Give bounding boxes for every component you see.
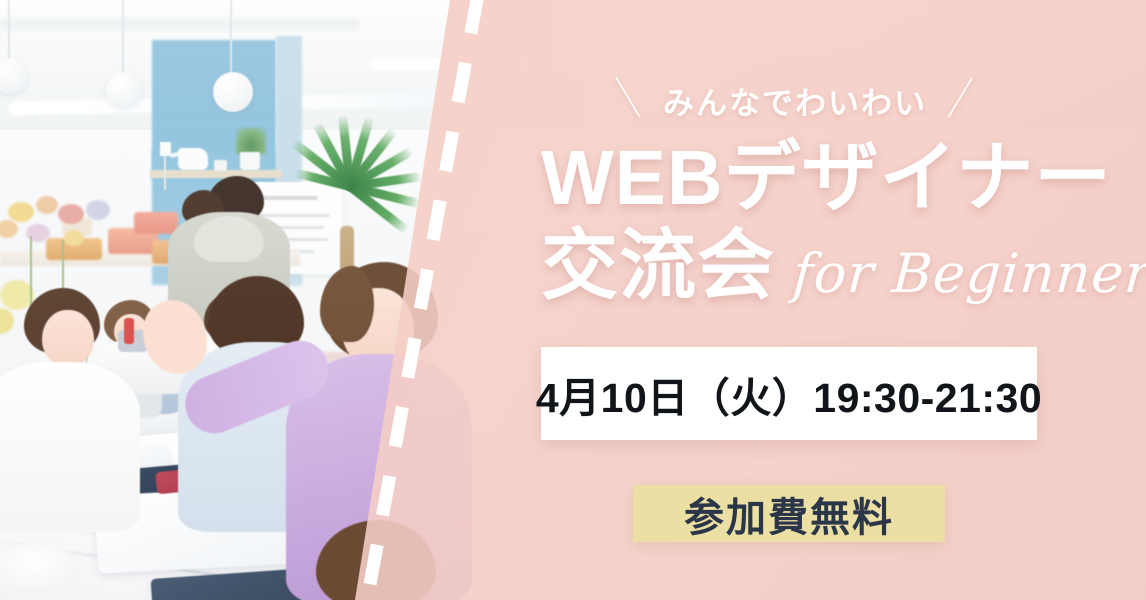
event-date-text: 4月10日（火）19:30-21:30 — [536, 364, 1042, 424]
banner-content: ＼ みんなでわいわい ／ WEBデザイナー 交流会 for Beginner 4… — [0, 0, 1146, 600]
tagline: ＼ みんなでわいわい ／ — [585, 78, 1005, 123]
free-admission-text: 参加費無料 — [684, 485, 894, 543]
title-line-1: WEBデザイナー — [541, 140, 1112, 217]
free-admission-badge: 参加費無料 — [633, 485, 945, 542]
title-line-2: 交流会 — [541, 228, 775, 305]
title-subtitle: for Beginner — [791, 247, 1146, 301]
event-banner: ＼ みんなでわいわい ／ WEBデザイナー 交流会 for Beginner 4… — [0, 0, 1146, 600]
slash-left-icon: ＼ — [606, 76, 652, 120]
title-line-2-row: 交流会 for Beginner — [541, 228, 1146, 305]
event-date-box: 4月10日（火）19:30-21:30 — [541, 347, 1037, 440]
slash-right-icon: ／ — [939, 76, 985, 120]
tagline-text: みんなでわいわい — [663, 78, 927, 123]
